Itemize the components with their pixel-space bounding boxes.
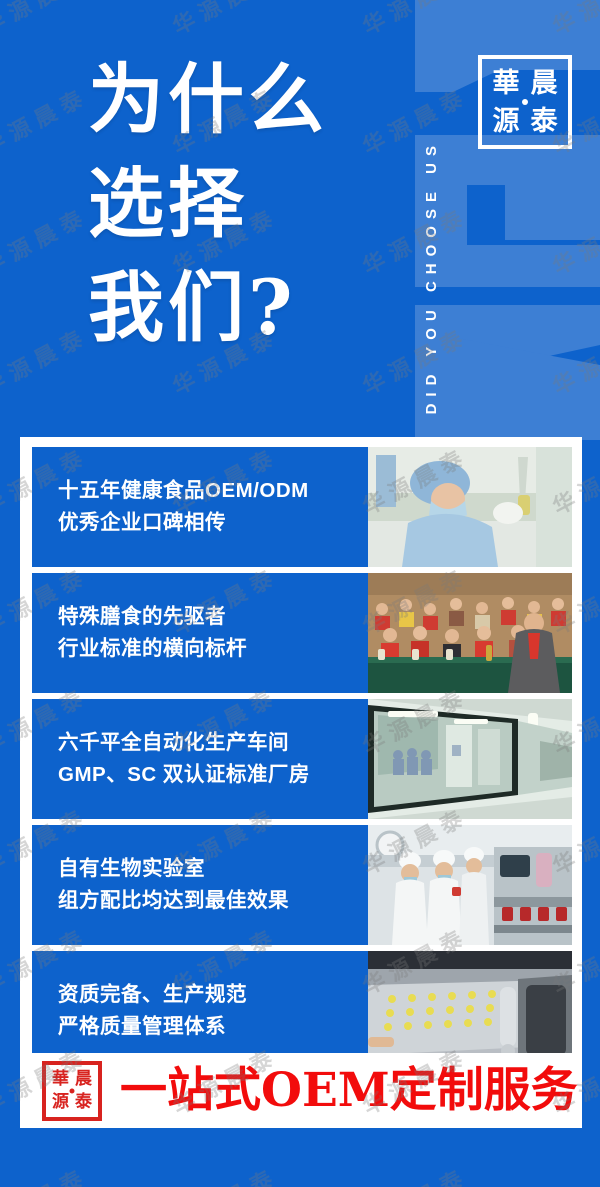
seal-char-top-left: 晨 [75,1071,92,1088]
watermark-tile: 华源晨泰 [510,1140,600,1187]
title-line-1: 为什么 [88,48,388,152]
title-line-3: 我们? [88,256,388,360]
watermark-text: 华源晨泰 [546,1159,600,1187]
feature-row: 特殊膳食的先驱者 行业标准的横向标杆 [32,573,572,693]
feature-row: 十五年健康食品OEM/ODM 优秀企业口碑相传 [32,447,572,567]
seal-char-bottom-left: 泰 [531,108,558,135]
watermark-tile: 华源晨泰 [0,1140,130,1187]
seal-char-bottom-right: 源 [493,108,520,135]
feature-line-2: 优秀企业口碑相传 [58,507,368,539]
watermark-tile: 华源晨泰 [130,1140,320,1187]
feature-line-2: 严格质量管理体系 [58,1011,368,1043]
feature-photo [368,825,572,945]
watermark-text: 华源晨泰 [356,1159,473,1187]
worker-inspecting-sample-image [368,447,572,567]
seal-char-top-right: 華 [52,1071,69,1088]
seal-char-top-right: 華 [493,70,520,97]
feature-card[interactable]: 自有生物实验室 组方配比均达到最佳效果 [32,825,368,945]
seal-char-top-left: 晨 [531,70,558,97]
conference-audience-image [368,573,572,693]
feature-line-1: 六千平全自动化生产车间 [58,727,368,759]
seal-char-bottom-right: 源 [52,1094,69,1111]
features-panel: 十五年健康食品OEM/ODM 优秀企业口碑相传 [20,437,582,1128]
feature-card[interactable]: 六千平全自动化生产车间 GMP、SC 双认证标准厂房 [32,699,368,819]
title-line-2: 选择 [88,152,388,256]
clean-room-corridor-image [368,699,572,819]
watermark-text: 华源晨泰 [166,1159,283,1187]
vertical-tagline-text: DID YOU CHOOSE US [423,139,440,414]
feature-line-1: 自有生物实验室 [58,853,368,885]
feature-line-1: 资质完备、生产规范 [58,979,368,1011]
feature-line-2: 行业标准的横向标杆 [58,633,368,665]
watermark-tile: 华源晨泰 [320,1140,510,1187]
poster-canvas: 为什么 选择 我们? DID YOU CHOOSE US 華 晨 源 泰 十五年… [0,0,600,1187]
feature-photo [368,699,572,819]
vertical-tagline: DID YOU CHOOSE US [417,14,445,414]
company-seal-header: 華 晨 源 泰 [478,55,572,149]
watermark-text: 华源晨泰 [0,1159,94,1187]
feature-row: 六千平全自动化生产车间 GMP、SC 双认证标准厂房 [32,699,572,819]
bottom-banner: 華 晨 源 泰 一站式OEM定制服务 [20,1053,582,1128]
features-list: 十五年健康食品OEM/ODM 优秀企业口碑相传 [32,447,572,1071]
lab-technicians-filling-line-image [368,825,572,945]
feature-line-1: 十五年健康食品OEM/ODM [58,475,368,507]
feature-line-1: 特殊膳食的先驱者 [58,601,368,633]
poster-header: 为什么 选择 我们? DID YOU CHOOSE US 華 晨 源 泰 [0,0,600,437]
feature-photo [368,573,572,693]
feature-line-2: GMP、SC 双认证标准厂房 [58,759,368,791]
feature-line-2: 组方配比均达到最佳效果 [58,885,368,917]
company-seal-banner: 華 晨 源 泰 [42,1061,102,1121]
seal-char-bottom-left: 泰 [75,1094,92,1111]
feature-photo [368,447,572,567]
banner-slogan: 一站式OEM定制服务 [120,1067,578,1114]
feature-card[interactable]: 特殊膳食的先驱者 行业标准的横向标杆 [32,573,368,693]
page-title: 为什么 选择 我们? [88,48,388,360]
feature-card[interactable]: 十五年健康食品OEM/ODM 优秀企业口碑相传 [32,447,368,567]
feature-row: 自有生物实验室 组方配比均达到最佳效果 [32,825,572,945]
seal-center-dot [522,99,528,105]
seal-center-dot [70,1088,75,1093]
